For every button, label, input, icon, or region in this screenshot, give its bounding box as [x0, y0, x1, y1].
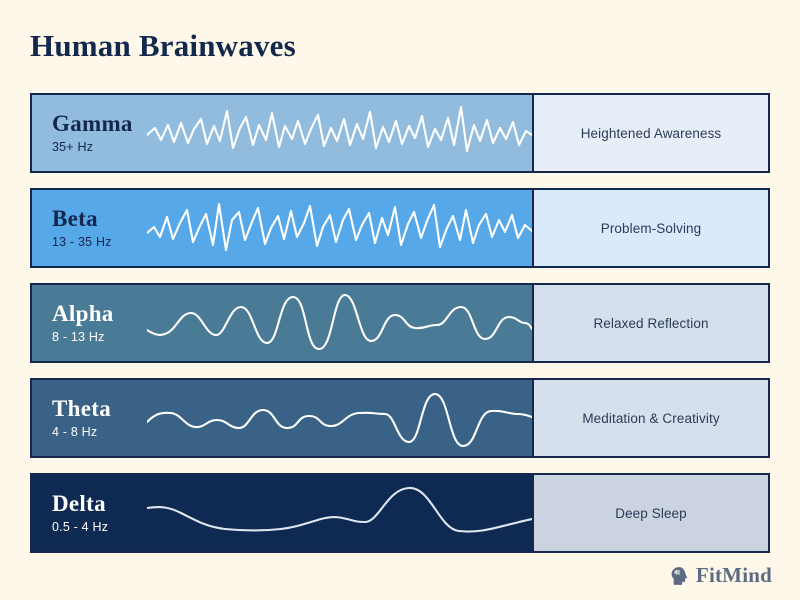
band-label-group: Delta0.5 - 4 Hz [52, 475, 108, 551]
mental-state-label: Meditation & Creativity [582, 411, 719, 426]
mental-state-label: Heightened Awareness [581, 126, 722, 141]
band-frequency-range: 35+ Hz [52, 140, 133, 154]
brand-name: FitMind [696, 563, 772, 588]
waveform-trace [147, 475, 532, 551]
mental-state-label: Relaxed Reflection [593, 316, 708, 331]
mental-state-label: Problem-Solving [601, 221, 702, 236]
state-panel: Problem-Solving [532, 190, 768, 266]
band-name: Alpha [52, 302, 114, 326]
wave-panel: Delta0.5 - 4 Hz [32, 475, 532, 551]
brain-head-icon [668, 565, 690, 587]
brainwave-row: Theta4 - 8 HzMeditation & Creativity [30, 378, 770, 458]
state-panel: Deep Sleep [532, 475, 768, 551]
wave-panel: Gamma35+ Hz [32, 95, 532, 171]
waveform-trace [147, 95, 532, 171]
band-name: Delta [52, 492, 108, 516]
brand-logo: FitMind [668, 563, 772, 588]
band-name: Theta [52, 397, 111, 421]
brainwave-row: Delta0.5 - 4 HzDeep Sleep [30, 473, 770, 553]
band-name: Gamma [52, 112, 133, 136]
band-frequency-range: 4 - 8 Hz [52, 425, 111, 439]
state-panel: Relaxed Reflection [532, 285, 768, 361]
state-panel: Meditation & Creativity [532, 380, 768, 456]
wave-panel: Alpha8 - 13 Hz [32, 285, 532, 361]
brainwave-row: Beta13 - 35 HzProblem-Solving [30, 188, 770, 268]
waveform-trace [147, 380, 532, 456]
brainwave-row: Gamma35+ HzHeightened Awareness [30, 93, 770, 173]
band-name: Beta [52, 207, 112, 231]
band-frequency-range: 0.5 - 4 Hz [52, 520, 108, 534]
state-panel: Heightened Awareness [532, 95, 768, 171]
wave-panel: Theta4 - 8 Hz [32, 380, 532, 456]
page-title: Human Brainwaves [30, 28, 296, 64]
band-frequency-range: 13 - 35 Hz [52, 235, 112, 249]
brainwave-rows: Gamma35+ HzHeightened AwarenessBeta13 - … [30, 93, 770, 568]
band-label-group: Gamma35+ Hz [52, 95, 133, 171]
waveform-trace [147, 190, 532, 266]
mental-state-label: Deep Sleep [615, 506, 687, 521]
band-frequency-range: 8 - 13 Hz [52, 330, 114, 344]
brainwave-row: Alpha8 - 13 HzRelaxed Reflection [30, 283, 770, 363]
band-label-group: Theta4 - 8 Hz [52, 380, 111, 456]
band-label-group: Alpha8 - 13 Hz [52, 285, 114, 361]
waveform-trace [147, 285, 532, 361]
band-label-group: Beta13 - 35 Hz [52, 190, 112, 266]
wave-panel: Beta13 - 35 Hz [32, 190, 532, 266]
